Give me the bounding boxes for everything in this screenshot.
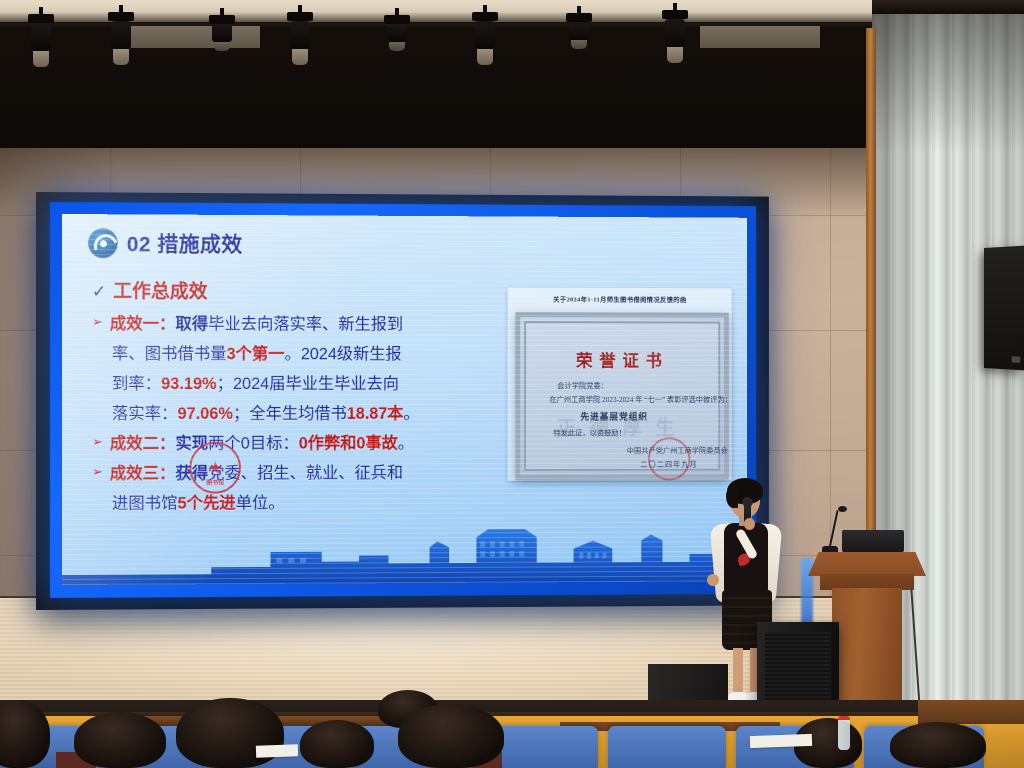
bullet-text-segment: 毕业去向落实率、新生报到: [208, 315, 403, 333]
slide-bullet-line: ➢成效一：取得毕业去向落实率、新生报到: [92, 311, 501, 338]
stage-light-icon-5: [384, 15, 410, 51]
campus-skyline-graphic: [62, 511, 747, 585]
slide-body: ✓ 工作总成效 ➢成效一：取得毕业去向落实率、新生报到率、图书借书量3个第一。2…: [92, 276, 501, 517]
curtain-rail: [872, 0, 1024, 14]
podium-laptop-monitor: [842, 530, 904, 552]
bullet-text-segment: ；2024届毕业生毕业去向: [217, 375, 399, 393]
audience-seat[interactable]: [608, 726, 726, 768]
presenter-leg-left: [733, 648, 743, 696]
slide-bullet-line: 落实率：97.06%；全年生均借书18.87本。: [112, 401, 501, 427]
presentation-slide[interactable]: 02 措施成效 ✓ 工作总成效 ➢成效一：取得毕业去向落实率、新生报到率、图书借…: [62, 214, 747, 585]
slide-bullet-line: ➢成效三：获得党委、招生、就业、征兵和: [92, 460, 501, 487]
certificate-line-2: 在广州工商学院 2023-2024 年 “七一” 表彰评选中被评为：: [549, 394, 731, 405]
certificate-title: 荣誉证书: [526, 347, 718, 372]
checkmark-icon: ✓: [92, 283, 106, 300]
podium-top-surface: [808, 552, 926, 576]
notebook-papers: [750, 734, 812, 748]
desk-wood-trim: [918, 700, 1024, 724]
slide-bullet-line: 到率：93.19%；2024届毕业生毕业去向: [112, 371, 501, 397]
bullet-text-segment: 。: [403, 405, 419, 423]
notebook-papers: [256, 744, 298, 757]
stamp-label: 图书馆: [191, 478, 239, 487]
bullet-text-segment: 单位。: [236, 494, 285, 512]
bullet-text: 成效一：取得毕业去向落实率、新生报到: [110, 311, 403, 338]
slide-bullet-line: 率、图书借书量3个第一。2024级新生报: [112, 341, 501, 367]
slide-bullet-list: ➢成效一：取得毕业去向落实率、新生报到率、图书借书量3个第一。2024级新生报到…: [92, 311, 501, 517]
bullet-text: 落实率：97.06%；全年生均借书18.87本。: [112, 401, 420, 427]
bullet-text-segment: 成效三：: [110, 465, 176, 483]
bullet-text: 到率：93.19%；2024届毕业生毕业去向: [112, 371, 399, 397]
certificate-line-1: 会计学院党委：: [557, 380, 608, 391]
bullet-text-segment: 落实率：: [112, 405, 178, 423]
stage-light-icon-1: [28, 14, 54, 67]
audience-person-head: [176, 698, 284, 768]
slide-title: 02 措施成效: [127, 228, 243, 258]
library-official-stamp-icon: ★ 图书馆: [189, 442, 240, 494]
bullet-text: 率、图书借书量3个第一。2024级新生报: [112, 341, 402, 367]
certificate-red-seal-icon: [648, 437, 690, 480]
bullet-text-segment: 3个第一: [227, 345, 285, 363]
slide-section-number: 02: [127, 233, 151, 256]
bullet-text-segment: 。: [398, 435, 414, 453]
stage-light-icon-6: [472, 12, 498, 65]
bullet-text-segment: 0作弊和0事故: [299, 435, 398, 453]
bullet-arrow-icon: ➢: [92, 461, 103, 483]
subheading-text: 工作总成效: [113, 276, 207, 303]
ceiling-panel-1: [115, 26, 260, 48]
microphone-head-icon: [742, 497, 753, 507]
slide-bullet-line: ➢成效二：实现两个0目标：0作弊和0事故。: [92, 431, 501, 457]
stage-light-icon-8: [662, 10, 688, 63]
bullet-text-segment: 率、图书借书量: [112, 345, 227, 363]
speaker-grille: [765, 632, 831, 704]
bullet-text-segment: 成效一：: [110, 315, 176, 333]
audience-person-head: [890, 722, 986, 768]
gooseneck-mic-head-icon: [838, 506, 847, 512]
slide-subheading: ✓ 工作总成效: [92, 276, 501, 304]
speaker-brand-badge-icon: [1012, 356, 1021, 363]
stage-light-icon-3: [209, 15, 235, 51]
stage-light-icon-7: [566, 13, 592, 49]
bullet-text-segment: 进图书馆: [112, 495, 178, 513]
bullet-text-segment: 成效二：: [110, 435, 176, 453]
auditorium-scene: 02 措施成效 ✓ 工作总成效 ➢成效一：取得毕业去向落实率、新生报到率、图书借…: [0, 0, 1024, 768]
ceiling-panel-2: [700, 26, 820, 48]
presenter-hair-side: [726, 488, 738, 508]
presenter-hand-right: [744, 518, 755, 530]
bullet-text-segment: ；全年生均借书: [233, 405, 347, 423]
certificate-line-4: 特发此证，以资鼓励！: [553, 428, 626, 439]
letter-header-text: 关于2024年1-11月师生图书借阅情况反馈的函: [508, 293, 732, 304]
honor-certificate-image: 正德厚生 荣誉证书 会计学院党委： 在广州工商学院 2023-2024 年 “七…: [515, 312, 728, 480]
star-icon: ★: [208, 459, 223, 476]
bullet-arrow-icon: ➢: [92, 431, 103, 453]
audience-person-head: [74, 712, 166, 768]
university-emblem-icon: [88, 228, 118, 258]
bullet-text-segment: 到率：: [112, 375, 161, 393]
podium-cable: [909, 576, 920, 706]
bullet-text-segment: 。2024级新生报: [284, 345, 401, 363]
bullet-text: 成效三：获得党委、招生、就业、征兵和: [110, 460, 403, 487]
bullet-text-segment: 93.19%: [161, 375, 216, 393]
stage-light-icon-2: [108, 12, 134, 65]
wall-mounted-speaker: [984, 246, 1024, 371]
stage-light-icon-4: [287, 12, 313, 65]
bullet-text-segment: 18.87本: [347, 405, 404, 423]
bullet-text-segment: 5个先进: [177, 495, 235, 513]
bullet-text-segment: 取得: [175, 315, 208, 333]
audience-person-head: [398, 704, 504, 768]
certificate-award-name: 先进基层党组织: [580, 410, 648, 423]
water-bottle: [838, 716, 850, 750]
bullet-arrow-icon: ➢: [92, 311, 103, 333]
bullet-text: 成效二：实现两个0目标：0作弊和0事故。: [110, 431, 414, 457]
slide-title-text: 措施成效: [157, 233, 242, 256]
bullet-text-segment: 97.06%: [177, 405, 232, 423]
podium-column: [832, 588, 902, 706]
presenter-hand-left: [707, 574, 719, 586]
certificate-inner-frame: 正德厚生 荣誉证书 会计学院党委： 在广州工商学院 2023-2024 年 “七…: [524, 321, 720, 471]
slide-header: 02 措施成效: [88, 228, 243, 259]
audience-person-head: [300, 720, 374, 768]
